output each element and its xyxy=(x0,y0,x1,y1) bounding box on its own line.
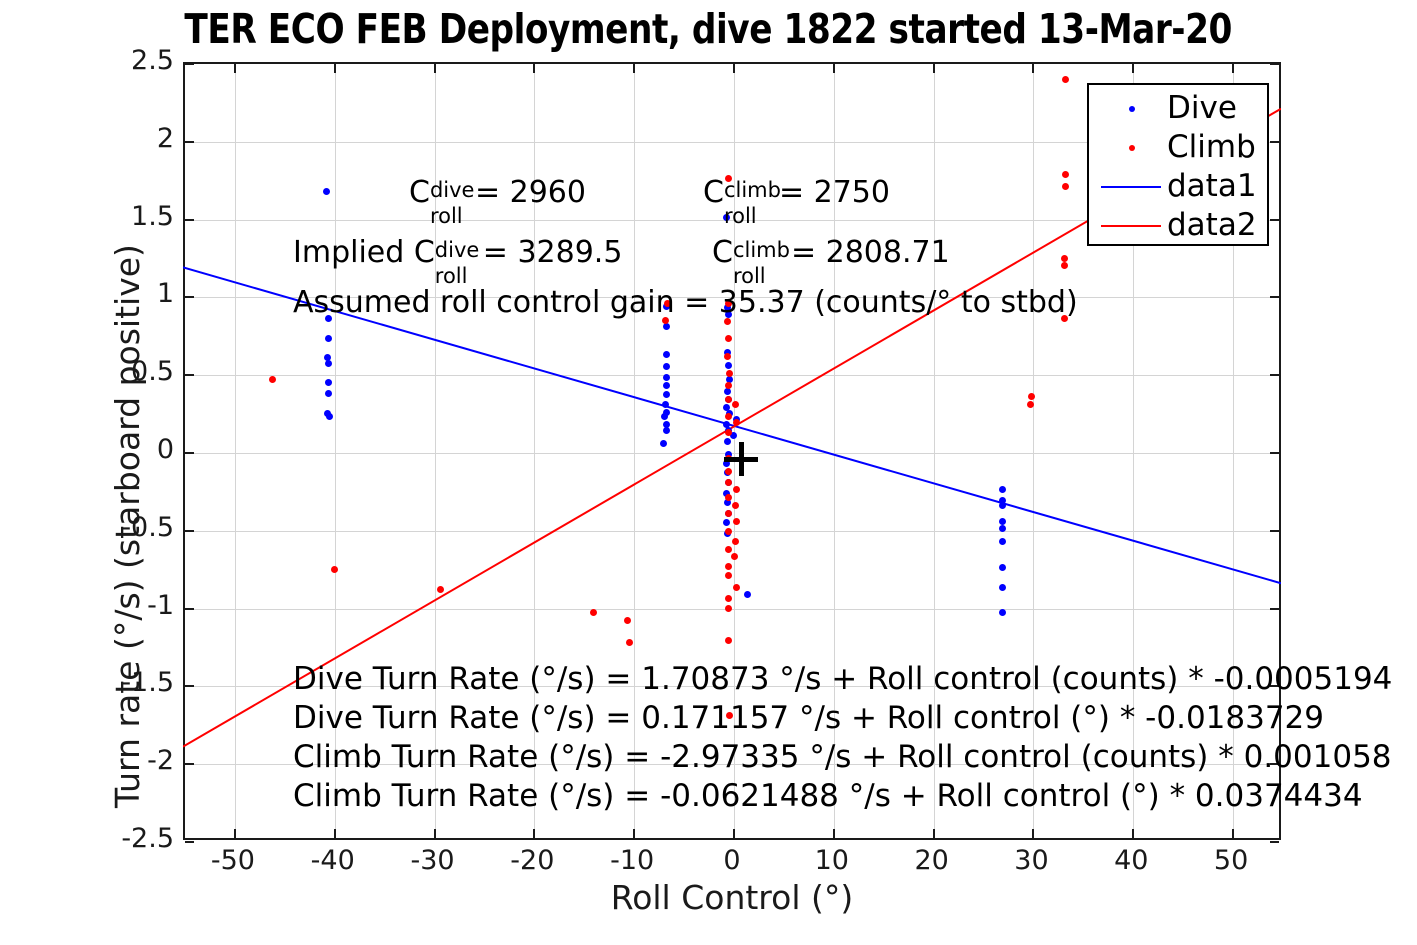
implied-prefix: Implied C xyxy=(293,235,435,270)
coef-dive-subscript: roll xyxy=(430,206,463,227)
y-tick-label: 2 xyxy=(96,123,174,154)
y-axis-tick xyxy=(185,841,194,843)
legend-item-dive[interactable]: Dive xyxy=(1089,89,1267,128)
y-axis-tick xyxy=(1270,608,1279,610)
data2-line-icon xyxy=(1101,225,1161,227)
coef-dive-superscript: dive xyxy=(430,180,475,201)
annotation-coef-climb: Cclimbroll= 2750 xyxy=(703,178,890,208)
x-tick-label: -40 xyxy=(288,845,378,876)
x-axis-tick xyxy=(1132,64,1134,73)
x-axis-tick xyxy=(833,64,835,73)
equation-climb-degrees: Climb Turn Rate (°/s) = -0.0621488 °/s +… xyxy=(293,778,1363,814)
legend-label-data2: data2 xyxy=(1167,206,1257,245)
x-tick-label: 30 xyxy=(986,845,1076,876)
x-axis-tick xyxy=(234,829,236,838)
legend-item-data2[interactable]: data2 xyxy=(1089,206,1267,245)
climb-marker-icon xyxy=(1129,145,1135,151)
y-tick-label: -2.5 xyxy=(96,823,174,854)
legend-label-climb: Climb xyxy=(1167,128,1256,167)
implied-dive-superscript: dive xyxy=(435,240,480,261)
page-title: TER ECO FEB Deployment, dive 1822 starte… xyxy=(0,0,1417,58)
y-axis-tick xyxy=(185,685,194,687)
coef-climb-value: = 2750 xyxy=(779,175,890,210)
x-tick-label: -50 xyxy=(188,845,278,876)
y-axis-tick xyxy=(185,296,194,298)
dive-marker-icon xyxy=(1129,106,1135,112)
y-tick-label: 2.5 xyxy=(96,45,174,76)
x-axis-tick xyxy=(234,64,236,73)
implied-climb-base: C xyxy=(712,235,733,270)
equation-climb-counts: Climb Turn Rate (°/s) = -2.97335 °/s + R… xyxy=(293,739,1392,775)
y-axis-tick xyxy=(185,219,194,221)
implied-climb-subscript: roll xyxy=(733,266,766,287)
legend-item-climb[interactable]: Climb xyxy=(1089,128,1267,167)
page-title-text: TER ECO FEB Deployment, dive 1822 starte… xyxy=(185,0,1232,58)
x-axis-tick xyxy=(334,64,336,73)
gridline-horizontal xyxy=(185,531,1279,532)
gridline-horizontal xyxy=(185,609,1279,610)
x-axis-title: Roll Control (°) xyxy=(183,878,1281,917)
y-axis-tick xyxy=(185,530,194,532)
implied-dive-value: = 3289.5 xyxy=(483,235,623,270)
y-axis-tick xyxy=(185,141,194,143)
y-axis-tick xyxy=(1270,530,1279,532)
legend-label-dive: Dive xyxy=(1167,89,1237,128)
y-axis-tick xyxy=(1270,296,1279,298)
x-axis-tick xyxy=(434,64,436,73)
y-axis-tick xyxy=(185,608,194,610)
legend-item-data1[interactable]: data1 xyxy=(1089,167,1267,206)
y-axis-title: Turn rate (°/s) (starboard positive) xyxy=(108,244,147,808)
x-tick-label: 20 xyxy=(887,845,977,876)
implied-climb-value: = 2808.71 xyxy=(791,235,950,270)
coef-climb-subscript: roll xyxy=(724,206,757,227)
y-axis-tick xyxy=(1270,141,1279,143)
x-axis-tick xyxy=(733,64,735,73)
implied-climb-superscript: climb xyxy=(733,240,790,261)
x-axis-tick xyxy=(1032,829,1034,838)
equation-dive-counts: Dive Turn Rate (°/s) = 1.70873 °/s + Rol… xyxy=(293,661,1392,697)
x-axis-tick xyxy=(334,829,336,838)
legend-label-data1: data1 xyxy=(1167,167,1257,206)
y-axis-tick xyxy=(1270,452,1279,454)
y-axis-tick xyxy=(185,763,194,765)
x-axis-tick xyxy=(633,829,635,838)
x-axis-tick xyxy=(933,829,935,838)
annotation-coef-dive: Cdiveroll= 2960 xyxy=(409,178,586,208)
y-tick-label: 1.5 xyxy=(96,201,174,232)
x-axis-tick xyxy=(733,829,735,838)
coef-dive-value: = 2960 xyxy=(475,175,586,210)
y-axis-tick xyxy=(185,63,194,65)
annotation-implied-dive: Implied Cdiveroll= 3289.5 xyxy=(293,238,622,268)
implied-dive-subscript: roll xyxy=(435,266,468,287)
x-axis-tick xyxy=(633,64,635,73)
x-axis-tick xyxy=(434,829,436,838)
coef-climb-superscript: climb xyxy=(724,180,781,201)
gridline-horizontal xyxy=(185,453,1279,454)
gridline-horizontal xyxy=(185,375,1279,376)
x-tick-label: 10 xyxy=(787,845,877,876)
x-axis-tick xyxy=(1232,64,1234,73)
x-axis-tick xyxy=(1032,64,1034,73)
x-axis-tick xyxy=(533,829,535,838)
x-tick-label: 50 xyxy=(1186,845,1276,876)
x-axis-tick xyxy=(933,64,935,73)
x-tick-label: 40 xyxy=(1086,845,1176,876)
y-axis-tick xyxy=(185,374,194,376)
y-axis-tick xyxy=(1270,841,1279,843)
coef-dive-symbol: Cdiveroll xyxy=(409,178,430,208)
y-axis-tick xyxy=(1270,219,1279,221)
y-axis-tick xyxy=(185,452,194,454)
x-tick-label: -10 xyxy=(587,845,677,876)
legend[interactable]: Dive Climb data1 data2 xyxy=(1087,83,1269,246)
annotation-implied-climb: Cclimbroll= 2808.71 xyxy=(712,238,950,268)
equation-dive-degrees: Dive Turn Rate (°/s) = 0.171157 °/s + Ro… xyxy=(293,700,1324,736)
gridline-vertical xyxy=(235,64,236,838)
x-axis-tick xyxy=(533,64,535,73)
annotation-roll-gain: Assumed roll control gain = 35.37 (count… xyxy=(293,288,1078,318)
x-axis-tick xyxy=(1232,829,1234,838)
y-axis-tick xyxy=(1270,374,1279,376)
y-axis-tick xyxy=(1270,63,1279,65)
x-tick-label: -20 xyxy=(487,845,577,876)
x-tick-label: 0 xyxy=(687,845,777,876)
x-axis-tick xyxy=(833,829,835,838)
coef-climb-symbol: Cclimbroll xyxy=(703,178,724,208)
x-tick-label: -30 xyxy=(388,845,478,876)
data1-line-icon xyxy=(1101,186,1161,188)
x-axis-tick xyxy=(1132,829,1134,838)
